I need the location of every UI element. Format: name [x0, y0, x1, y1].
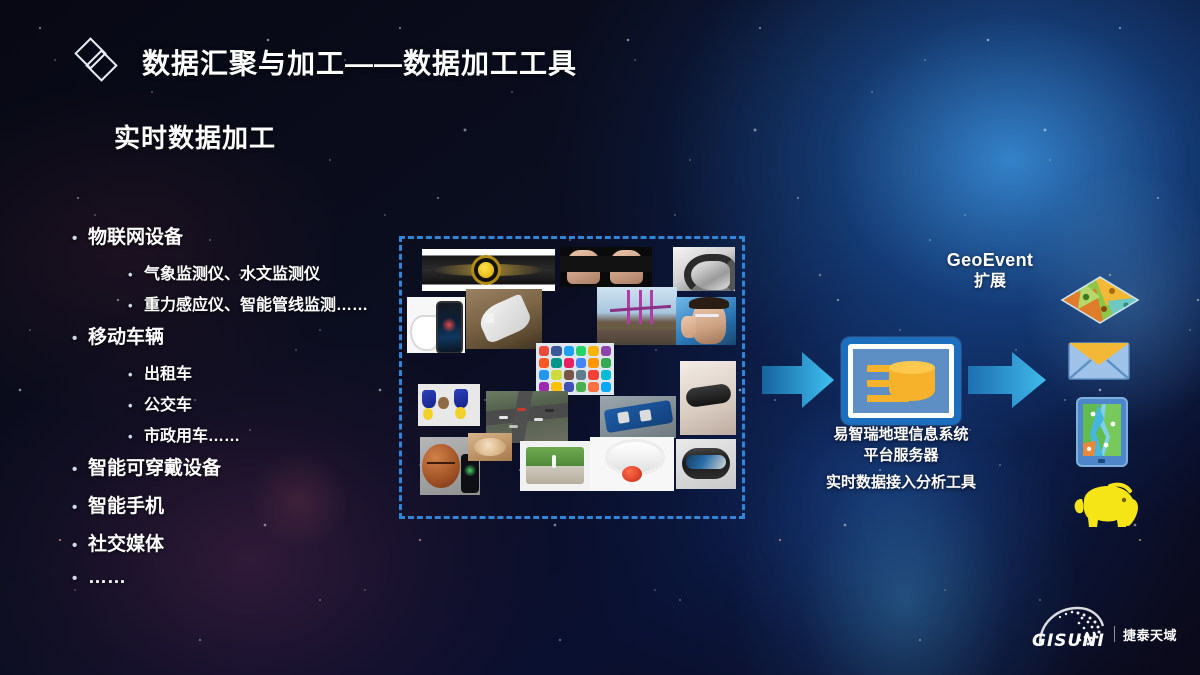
photo-social-media-app-icon-grid	[536, 343, 614, 395]
page-title: 数据汇聚与加工——数据加工工具	[142, 42, 577, 82]
bullet-text: 社交媒体	[88, 529, 402, 556]
bullet-text: 公交车	[144, 391, 402, 415]
bullet-item-l2: •重力感应仪、智能管线监测……	[72, 291, 402, 315]
geoevent-title: GeoEvent	[895, 250, 1085, 272]
flow-arrow-into-server	[762, 352, 834, 408]
bullet-text: 气象监测仪、水文监测仪	[144, 260, 402, 284]
bullet-marker: •	[72, 500, 88, 515]
bullet-item-l2: •市政用车……	[72, 422, 402, 446]
bullet-item-l1: •社交媒体	[72, 529, 402, 556]
database-cylinder-icon	[889, 361, 935, 403]
logo-divider	[1114, 626, 1115, 642]
bullet-item-l2: •公交车	[72, 391, 402, 415]
iot-device-photo-collage	[404, 241, 740, 514]
photo-smart-tennis-racket-sensor	[590, 437, 674, 491]
bullet-list: •物联网设备•气象监测仪、水文监测仪•重力感应仪、智能管线监测……•移动车辆•出…	[72, 222, 402, 600]
server-caption-line2: 平台服务器	[863, 447, 938, 464]
bullet-marker: •	[128, 399, 144, 412]
slide-canvas: 数据汇聚与加工——数据加工工具 实时数据加工 •物联网设备•气象监测仪、水文监测…	[0, 0, 1200, 675]
photo-smart-sock-and-phone-app	[407, 297, 465, 353]
server-caption-line3: 实时数据接入分析工具	[826, 474, 976, 491]
bullet-text: 重力感应仪、智能管线监测……	[144, 291, 402, 315]
section-title: 实时数据加工	[114, 118, 276, 155]
geoevent-label: GeoEvent 扩展	[895, 250, 1085, 291]
photo-buried-pipeline-sensor	[466, 289, 542, 349]
bullet-marker: •	[72, 538, 88, 553]
hadoop-elephant-icon	[1070, 481, 1140, 531]
slide-title-row: 数据汇聚与加工——数据加工工具	[78, 40, 577, 84]
bullet-text: 市政用车……	[144, 422, 402, 446]
photo-transmission-tower-power-line	[597, 287, 677, 345]
photo-sports-video-on-smartphone	[520, 441, 590, 491]
bullet-marker: •	[72, 331, 88, 346]
bullet-item-l1: •移动车辆	[72, 322, 402, 349]
bullet-marker: •	[128, 430, 144, 443]
photo-curved-screen-smartwatch	[676, 439, 736, 489]
bullet-item-l1: •物联网设备	[72, 222, 402, 249]
flow-arrow-out-of-server	[968, 352, 1046, 408]
bullet-marker: •	[128, 368, 144, 381]
bullet-marker: •	[72, 462, 88, 477]
bullet-item-l1: •智能可穿戴设备	[72, 453, 402, 480]
bullet-marker: •	[72, 231, 88, 246]
bullet-item-l2: •出租车	[72, 360, 402, 384]
server-caption: 易智瑞地理信息系统 平台服务器 实时数据接入分析工具	[796, 424, 1006, 493]
bullet-text: 出租车	[144, 360, 402, 384]
photo-bluetooth-earpiece-headset	[673, 247, 735, 291]
photo-smart-compression-apparel	[560, 247, 652, 287]
bullet-text: 物联网设备	[88, 222, 402, 249]
photo-smart-eyewear-wearable	[676, 297, 736, 345]
bullet-text: 智能手机	[88, 491, 402, 518]
mobile-map-app-icon	[1076, 397, 1140, 467]
gisuni-logo: GISUNI 捷泰天域	[1032, 604, 1177, 648]
gisuni-globe-arc-logo: GISUNI	[1032, 604, 1106, 648]
logo-chinese-name: 捷泰天域	[1123, 625, 1177, 648]
photo-smart-plate-food-tracker	[468, 433, 512, 461]
bullet-item-l1: •智能手机	[72, 491, 402, 518]
geoevent-subtitle: 扩展	[895, 272, 1085, 292]
bullet-item-l1: •……	[72, 567, 402, 589]
photo-fitness-tracker-wristband	[680, 361, 736, 435]
photo-bluetooth-key-fobs	[418, 384, 480, 426]
output-icon-column	[1060, 275, 1140, 545]
server-caption-line1: 易智瑞地理信息系统	[833, 426, 968, 443]
bullet-marker: •	[128, 299, 144, 312]
double-diamond-icon	[78, 40, 120, 84]
map-layer-diamond-icon	[1060, 275, 1140, 325]
bullet-marker: •	[72, 571, 88, 586]
photo-chest-strap-heart-rate-monitor	[422, 249, 555, 291]
bullet-text: 智能可穿戴设备	[88, 453, 402, 480]
bullet-marker: •	[128, 268, 144, 281]
email-envelope-icon	[1068, 339, 1140, 383]
svg-text:GISUNI: GISUNI	[1032, 631, 1105, 648]
bullet-item-l2: •气象监测仪、水文监测仪	[72, 260, 402, 284]
photo-iot-sensor-circuit-board	[600, 396, 676, 438]
bullet-text: 移动车辆	[88, 322, 402, 349]
gis-server-database-icon	[841, 337, 961, 425]
bullet-text: ……	[88, 567, 402, 589]
